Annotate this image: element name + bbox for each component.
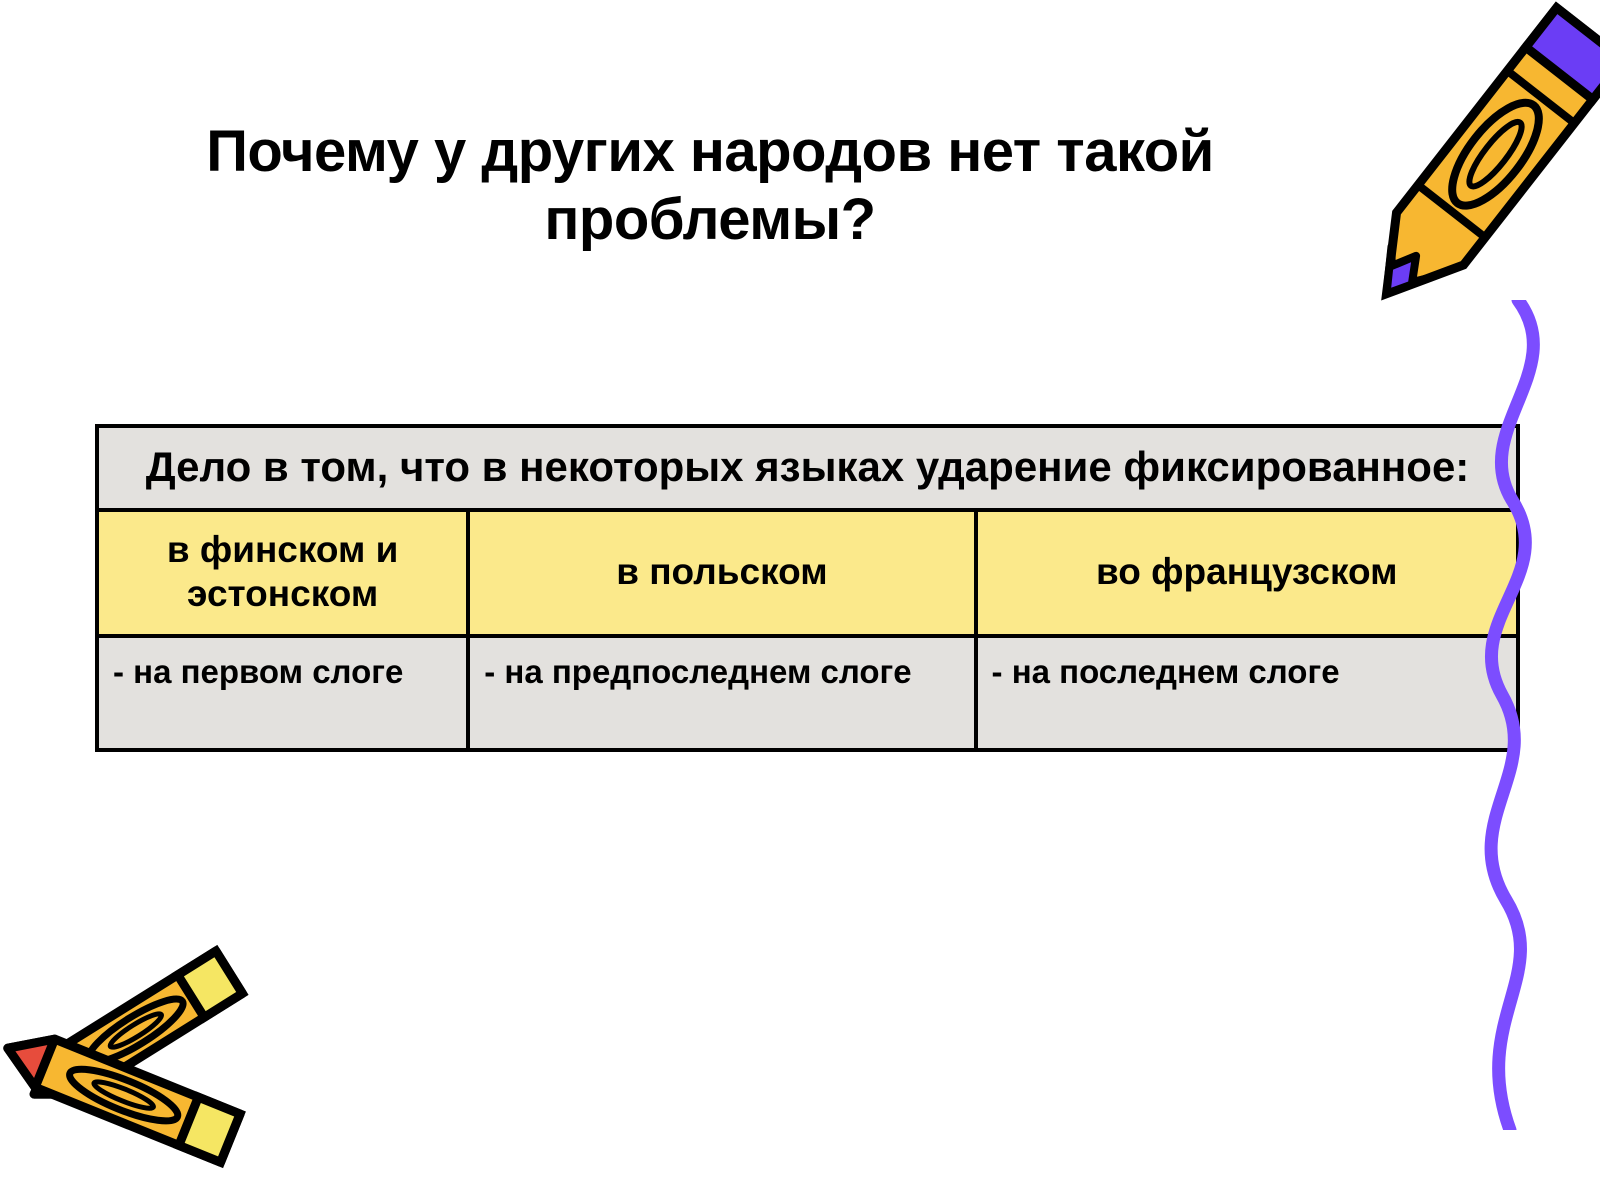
- table-header-row: Дело в том, что в некоторых языках ударе…: [99, 428, 1516, 512]
- table-cell-rule-3: - на последнем слоге: [978, 638, 1516, 748]
- crayon-icon: [1330, 0, 1600, 380]
- table-rule-row: - на первом слоге - на предпоследнем сло…: [99, 638, 1516, 748]
- table-cell-language-2: в польском: [470, 512, 977, 635]
- table-cell-language-3: во французском: [978, 512, 1516, 635]
- page-title: Почему у других народов нет такой пробле…: [180, 118, 1240, 255]
- slide-canvas: Почему у других народов нет такой пробле…: [0, 0, 1600, 1200]
- table-cell-rule-1: - на первом слоге: [99, 638, 470, 748]
- table-cell-language-1: в финском и эстонском: [99, 512, 470, 635]
- table-header-cell: Дело в том, что в некоторых языках ударе…: [99, 428, 1516, 508]
- table-language-row: в финском и эстонском в польском во фран…: [99, 512, 1516, 639]
- stress-rules-table: Дело в том, что в некоторых языках ударе…: [95, 424, 1520, 752]
- pencils-icon: [0, 920, 330, 1200]
- table-cell-rule-2: - на предпоследнем слоге: [470, 638, 977, 748]
